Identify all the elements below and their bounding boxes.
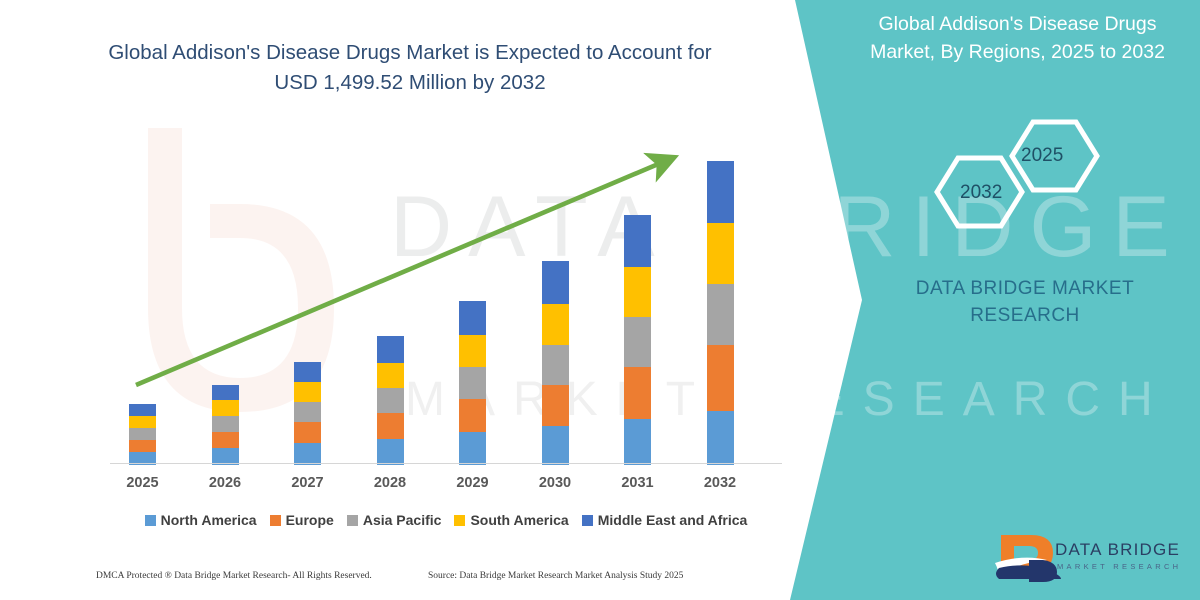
x-label-2027: 2027 <box>278 475 338 491</box>
bar-2031[interactable] <box>624 215 651 465</box>
legend-swatch <box>145 515 156 526</box>
segment-middle-east-and-africa <box>377 336 404 363</box>
legend-label: Middle East and Africa <box>598 512 748 528</box>
segment-asia-pacific <box>624 317 651 367</box>
logo-wordmark: DATA BRIDGE <box>1055 540 1180 560</box>
x-label-2030: 2030 <box>525 475 585 491</box>
segment-middle-east-and-africa <box>624 215 651 267</box>
segment-asia-pacific <box>212 416 239 432</box>
x-label-2026: 2026 <box>195 475 255 491</box>
segment-north-america <box>707 411 734 465</box>
panel-title: Global Addison's Disease Drugs Market, B… <box>845 10 1190 66</box>
segment-south-america <box>212 400 239 416</box>
bar-2027[interactable] <box>294 362 321 465</box>
x-label-2025: 2025 <box>113 475 173 491</box>
year-hexagon-badges <box>925 118 1115 233</box>
legend-item-south-america[interactable]: South America <box>454 512 568 528</box>
segment-middle-east-and-africa <box>707 161 734 223</box>
legend-label: Asia Pacific <box>363 512 442 528</box>
legend-swatch <box>454 515 465 526</box>
stacked-bar-chart <box>110 140 770 465</box>
logo-subtitle: MARKET RESEARCH <box>1057 562 1181 571</box>
segment-north-america <box>377 439 404 465</box>
segment-middle-east-and-africa <box>212 385 239 400</box>
segment-asia-pacific <box>459 367 486 399</box>
bar-2025[interactable] <box>129 404 156 465</box>
infographic-canvas: DATA MARKET BRIDGE RESEARCH Global Addis… <box>0 0 1200 600</box>
segment-europe <box>542 385 569 426</box>
bar-2028[interactable] <box>377 336 404 465</box>
x-label-2029: 2029 <box>443 475 503 491</box>
legend-label: North America <box>161 512 257 528</box>
bar-2029[interactable] <box>459 301 486 465</box>
x-axis-labels: 20252026202720282029203020312032 <box>110 472 782 498</box>
legend-item-asia-pacific[interactable]: Asia Pacific <box>347 512 442 528</box>
segment-middle-east-and-africa <box>294 362 321 382</box>
segment-asia-pacific <box>129 428 156 440</box>
segment-south-america <box>542 304 569 345</box>
hexagon-2032-label: 2032 <box>960 182 1002 204</box>
segment-asia-pacific <box>294 402 321 422</box>
legend-item-north-america[interactable]: North America <box>145 512 257 528</box>
segment-north-america <box>542 426 569 465</box>
legend-swatch <box>270 515 281 526</box>
legend-item-middle-east-and-africa[interactable]: Middle East and Africa <box>582 512 748 528</box>
segment-asia-pacific <box>377 388 404 413</box>
segment-europe <box>212 432 239 448</box>
segment-asia-pacific <box>542 345 569 385</box>
bar-2032[interactable] <box>707 161 734 465</box>
segment-south-america <box>294 382 321 402</box>
segment-europe <box>707 345 734 411</box>
x-label-2032: 2032 <box>690 475 750 491</box>
segment-south-america <box>459 335 486 367</box>
x-label-2031: 2031 <box>608 475 668 491</box>
legend-label: South America <box>470 512 568 528</box>
segment-europe <box>129 440 156 452</box>
dmca-notice: DMCA Protected ® Data Bridge Market Rese… <box>96 571 372 581</box>
segment-europe <box>624 367 651 419</box>
segment-europe <box>377 413 404 439</box>
chart-legend: North AmericaEuropeAsia PacificSouth Ame… <box>110 512 782 528</box>
segment-north-america <box>294 443 321 465</box>
bar-2026[interactable] <box>212 385 239 465</box>
legend-item-europe[interactable]: Europe <box>270 512 334 528</box>
hexagon-2025-label: 2025 <box>1021 145 1063 167</box>
segment-europe <box>294 422 321 443</box>
x-axis-line <box>110 463 782 464</box>
brand-name: DATA BRIDGE MARKET RESEARCH <box>880 275 1170 329</box>
segment-south-america <box>707 223 734 284</box>
segment-europe <box>459 399 486 432</box>
segment-south-america <box>129 416 156 428</box>
x-label-2028: 2028 <box>360 475 420 491</box>
legend-label: Europe <box>286 512 334 528</box>
segment-south-america <box>377 363 404 388</box>
bar-2030[interactable] <box>542 261 569 465</box>
segment-south-america <box>624 267 651 317</box>
source-note: Source: Data Bridge Market Research Mark… <box>428 571 683 581</box>
segment-middle-east-and-africa <box>459 301 486 335</box>
segment-asia-pacific <box>707 284 734 345</box>
segment-north-america <box>624 419 651 465</box>
segment-middle-east-and-africa <box>129 404 156 416</box>
chart-title: Global Addison's Disease Drugs Market is… <box>90 38 730 98</box>
legend-swatch <box>347 515 358 526</box>
segment-north-america <box>459 432 486 465</box>
segment-middle-east-and-africa <box>542 261 569 304</box>
legend-swatch <box>582 515 593 526</box>
watermark-research: RESEARCH <box>760 372 1171 427</box>
